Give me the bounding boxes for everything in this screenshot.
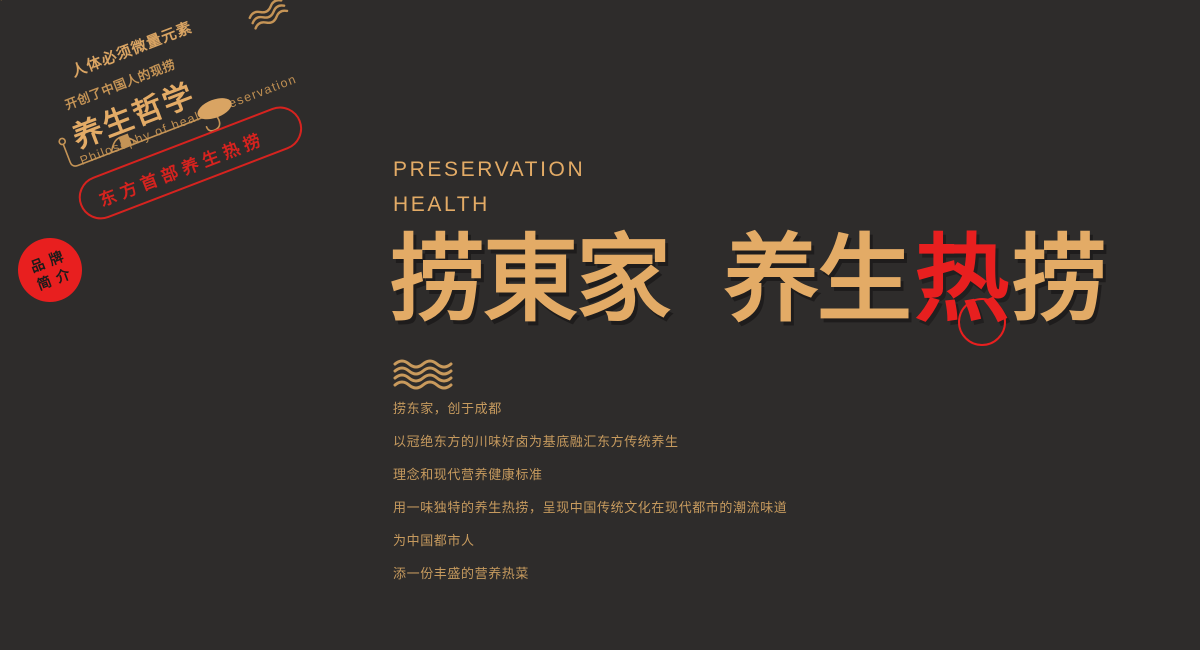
badge-char-1: 品 (28, 256, 46, 274)
body-copy: 捞东家，创于成都 以冠绝东方的川味好卤为基底融汇东方传统养生 理念和现代营养健康… (393, 400, 1093, 598)
trace-elements-label-en: trace elements of human body (0, 0, 39, 8)
body-line: 用一味独特的养生热捞，呈现中国传统文化在现代都市的潮流味道 (393, 499, 1093, 517)
eyebrow-line-health: HEALTH (393, 187, 1033, 222)
title-part-yang-sheng: 养生 (724, 222, 910, 338)
wave-motif-icon (392, 359, 454, 391)
body-line: 添一份丰盛的营养热菜 (393, 565, 1093, 583)
title-part-lao-dong-jia: 捞東家 (390, 222, 669, 338)
brand-intro-badge[interactable]: 品 牌 简 介 (9, 229, 92, 312)
wave-mark-small-icon (246, 0, 295, 34)
brand-intro-badge-chars: 品 牌 简 介 (9, 229, 92, 312)
headline-eyebrow: PRESERVATION HEALTH (393, 152, 1033, 222)
title-accent-circle (958, 298, 1006, 346)
body-line: 为中国都市人 (393, 532, 1093, 550)
main-title: 捞東家 养生 热 捞 (390, 222, 1040, 338)
badge-char-3: 简 (35, 273, 53, 291)
body-line: 捞东家，创于成都 (393, 400, 1093, 418)
body-line: 理念和现代营养健康标准 (393, 466, 1093, 484)
badge-char-2: 牌 (47, 249, 65, 267)
badge-char-4: 介 (54, 266, 72, 284)
title-part-lao: 捞 (1012, 222, 1105, 338)
body-line: 以冠绝东方的川味好卤为基底融汇东方传统养生 (393, 433, 1093, 451)
poster-canvas: 人体必须微量元素 开创了中国人的现捞 养生哲学 Philosophy of he… (0, 0, 1200, 650)
eyebrow-line-preservation: PRESERVATION (393, 152, 1033, 187)
